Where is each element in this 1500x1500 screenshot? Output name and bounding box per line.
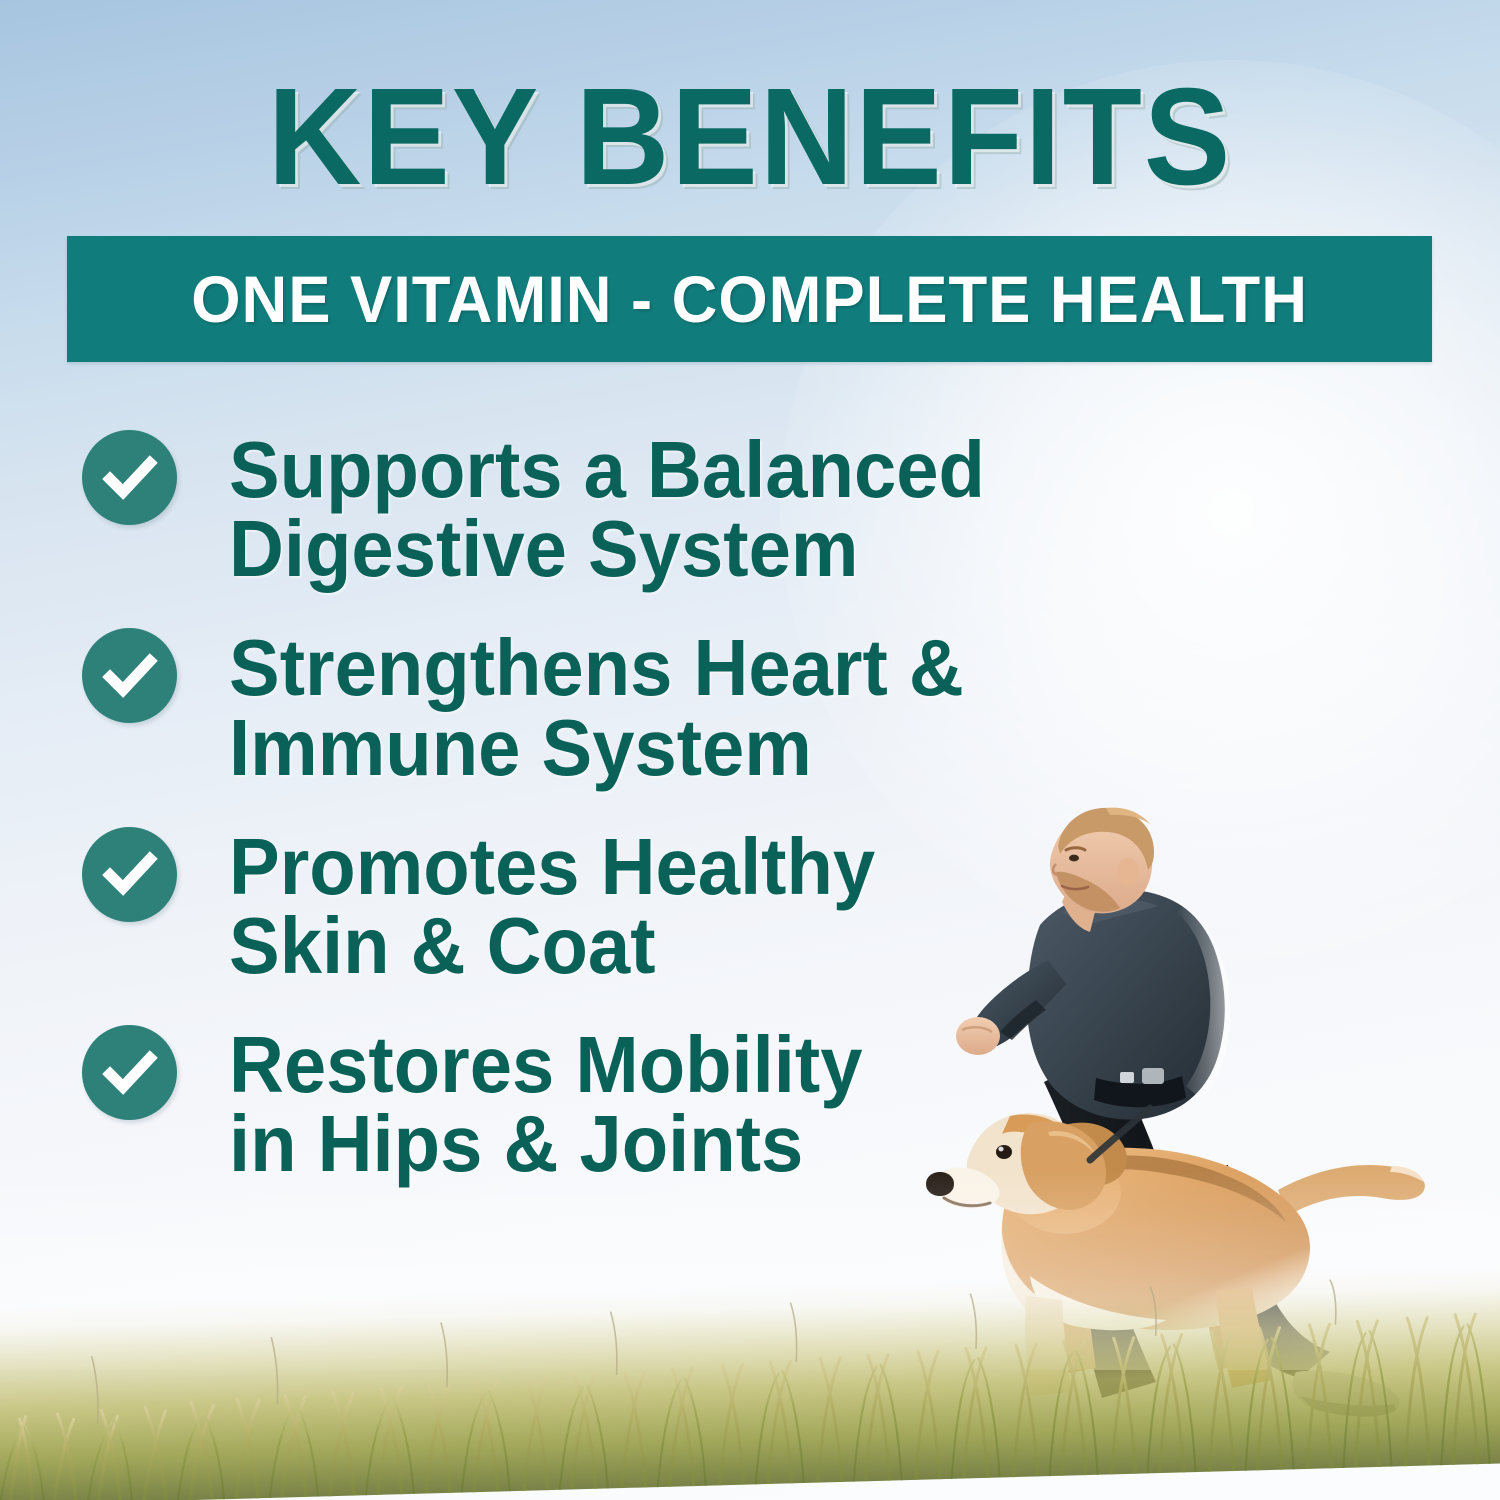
check-icon: [82, 1025, 177, 1120]
grass-blades: [0, 1273, 1500, 1500]
key-benefits-poster: KEY BENEFITS ONE VITAMIN - COMPLETE HEAL…: [0, 0, 1500, 1500]
benefit-label: Supports a Balanced Digestive System: [229, 428, 985, 588]
benefit-item: Promotes Healthy Skin & Coat: [82, 825, 1042, 985]
check-icon: [82, 430, 177, 525]
benefit-item: Supports a Balanced Digestive System: [82, 428, 1042, 588]
benefit-label: Restores Mobility in Hips & Joints: [229, 1023, 862, 1183]
check-icon: [82, 827, 177, 922]
page-title: KEY BENEFITS: [45, 68, 1455, 206]
check-icon: [82, 628, 177, 723]
benefit-item: Restores Mobility in Hips & Joints: [82, 1023, 1042, 1183]
benefit-item: Strengthens Heart & Immune System: [82, 626, 1042, 786]
benefit-label: Promotes Healthy Skin & Coat: [229, 825, 875, 985]
grass-field: [0, 1263, 1500, 1500]
benefits-list: Supports a Balanced Digestive System Str…: [82, 428, 1042, 1222]
subheadline-banner: ONE VITAMIN - COMPLETE HEALTH: [67, 236, 1432, 362]
benefit-label: Strengthens Heart & Immune System: [229, 626, 964, 786]
subheadline-text: ONE VITAMIN - COMPLETE HEALTH: [191, 261, 1308, 337]
